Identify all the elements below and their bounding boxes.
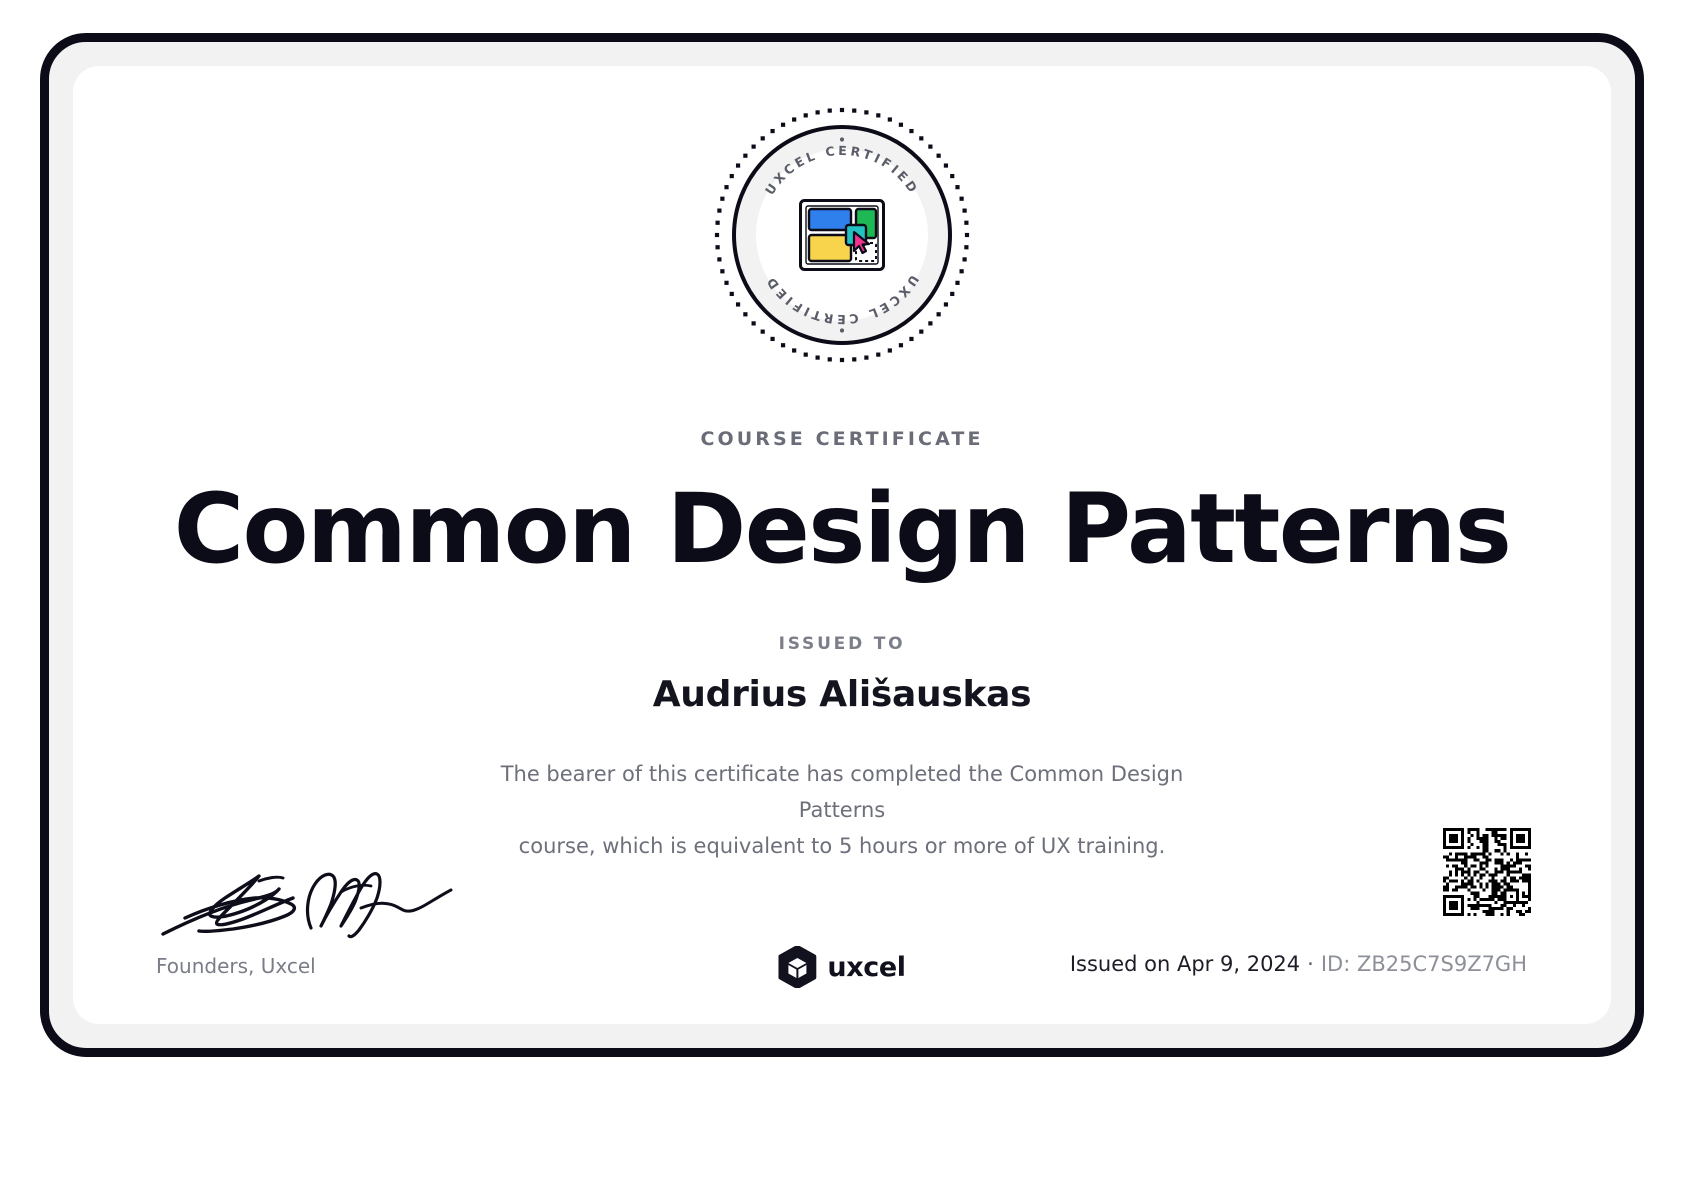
founders-label: Founders, Uxcel xyxy=(156,954,316,978)
certificate-card: UXCEL CERTIFIED UXCEL CERTIFIED xyxy=(73,66,1611,1024)
certificate-frame: UXCEL CERTIFIED UXCEL CERTIFIED xyxy=(40,33,1644,1057)
seal-text-bottom: UXCEL CERTIFIED xyxy=(762,272,922,327)
issued-on-date: Issued on Apr 9, 2024 xyxy=(1070,952,1300,976)
uxcel-brand: uxcel xyxy=(778,946,905,988)
verification-qr-code[interactable] xyxy=(1443,828,1531,916)
seal-dot-separator-top xyxy=(840,137,844,141)
course-title: Common Design Patterns xyxy=(73,478,1611,582)
issue-separator: · xyxy=(1307,952,1314,976)
seal-text-bottom-path: UXCEL CERTIFIED xyxy=(762,272,922,327)
issued-to-label: ISSUED TO xyxy=(73,634,1611,654)
seal-text-top: UXCEL CERTIFIED xyxy=(762,143,922,198)
certificate-id: ID: ZB25C7S9Z7GH xyxy=(1321,952,1527,976)
recipient-name: Audrius Ališauskas xyxy=(73,674,1611,715)
issue-info: Issued on Apr 9, 2024·ID: ZB25C7S9Z7GH xyxy=(1070,952,1527,976)
description-line-1: The bearer of this certificate has compl… xyxy=(462,756,1222,828)
certificate-description: The bearer of this certificate has compl… xyxy=(462,756,1222,864)
certificate-kicker: COURSE CERTIFICATE xyxy=(73,428,1611,450)
seal-dot-separator-bottom xyxy=(840,328,844,332)
founder-signatures xyxy=(155,856,455,946)
seal-text-top-path: UXCEL CERTIFIED xyxy=(762,143,922,198)
uxcel-cube-logo-icon xyxy=(778,946,816,988)
uxcel-wordmark: uxcel xyxy=(827,952,905,983)
description-line-2: course, which is equivalent to 5 hours o… xyxy=(462,828,1222,864)
certified-seal: UXCEL CERTIFIED UXCEL CERTIFIED xyxy=(711,104,973,366)
design-patterns-icon xyxy=(799,199,885,271)
